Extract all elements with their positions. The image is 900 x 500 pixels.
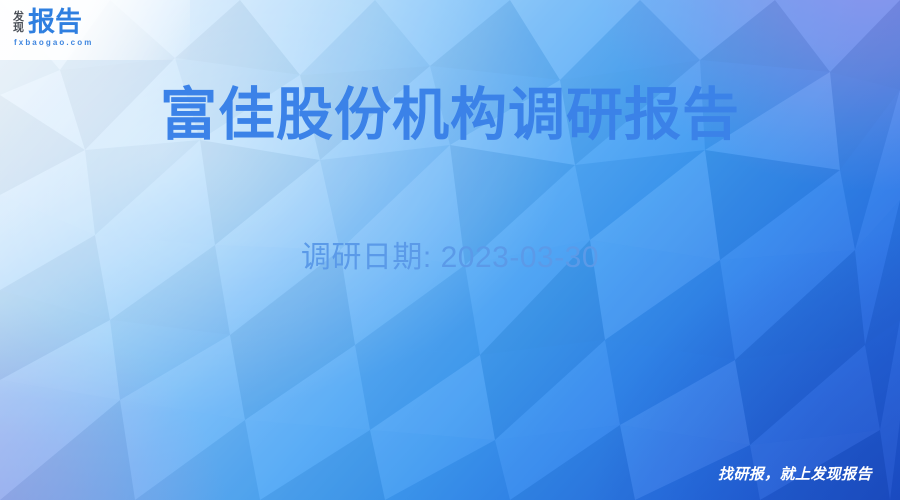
brand-logo-url: fxbaogao.com xyxy=(14,38,93,47)
survey-date-subtitle: 调研日期: 2023-03-30 xyxy=(0,232,900,276)
brand-logo[interactable]: 发 现 报告 fxbaogao.com xyxy=(13,9,93,47)
page-title: 富佳股份机构调研报告 xyxy=(0,84,900,148)
brand-logo-prefix-bottom: 现 xyxy=(13,23,24,34)
footer-slogan: 找研报，就上发现报告 xyxy=(718,463,872,484)
brand-logo-prefix: 发 现 xyxy=(13,11,24,34)
brand-logo-row: 发 现 报告 xyxy=(13,9,82,36)
report-cover-page: 发 现 报告 fxbaogao.com 富佳股份机构调研报告 调研日期: 202… xyxy=(0,0,900,500)
brand-logo-wordmark: 报告 xyxy=(28,9,82,36)
